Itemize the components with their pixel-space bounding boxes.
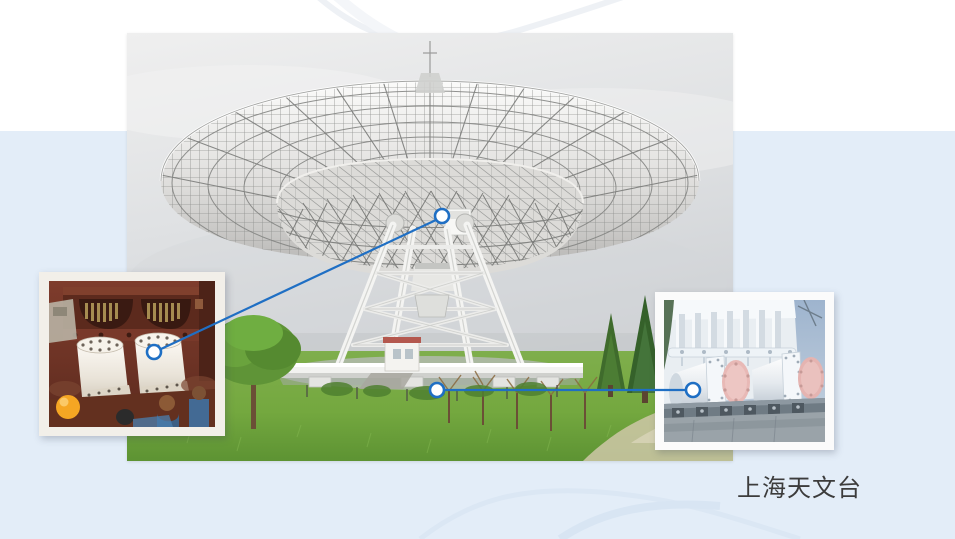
inset-left-image xyxy=(49,281,215,427)
caption-observatory-name: 上海天文台 xyxy=(737,468,862,503)
bearing-closeup-painted xyxy=(655,292,834,450)
bearing-closeup-rusty xyxy=(39,272,225,436)
slide-canvas: 上海天文台 xyxy=(0,0,955,539)
inset-right-image xyxy=(664,300,825,442)
